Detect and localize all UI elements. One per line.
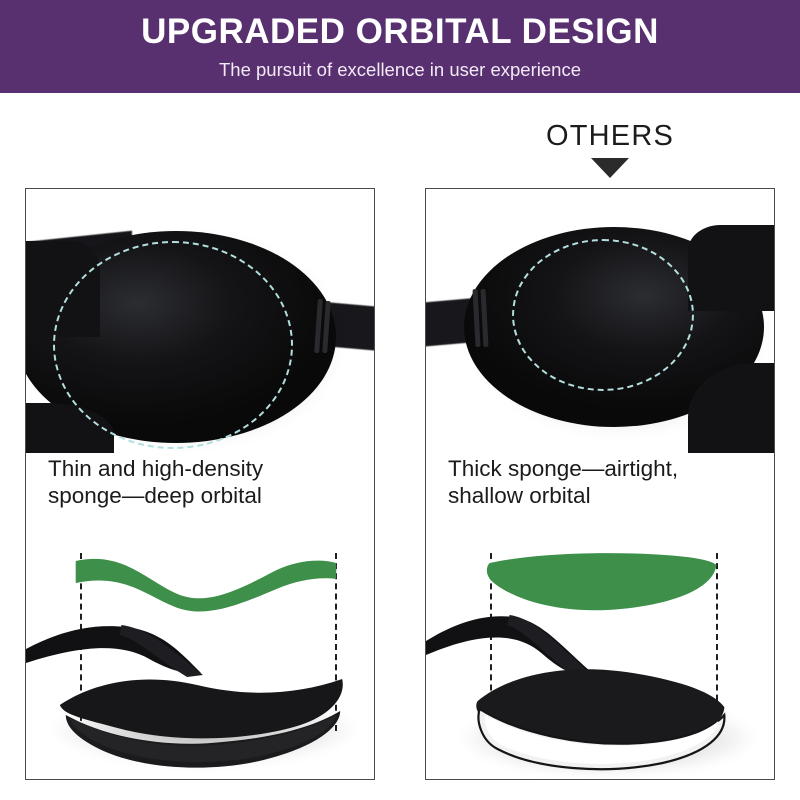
orbital-marker-dashed-ellipse (53, 241, 293, 449)
panel-caption-ours: Thin and high-density sponge—deep orbita… (26, 455, 374, 510)
mask-side-view-others (426, 545, 774, 780)
sleep-mask-illustration-ours (26, 189, 374, 453)
cross-section-diagram-others (426, 545, 774, 780)
caption-line-2: shallow orbital (448, 482, 754, 509)
product-photo-others (426, 189, 774, 453)
others-label: OTHERS (546, 122, 674, 151)
caption-line-2: sponge—deep orbital (48, 482, 354, 509)
page-title: UPGRADED ORBITAL DESIGN (141, 13, 659, 52)
orbital-marker-dashed-ellipse (512, 239, 694, 391)
mask-right-wing (688, 225, 774, 311)
infographic-page: UPGRADED ORBITAL DESIGN The pursuit of e… (0, 0, 800, 800)
header-banner: UPGRADED ORBITAL DESIGN The pursuit of e… (0, 0, 800, 93)
caption-line-1: Thin and high-density (48, 455, 354, 482)
caption-line-1: Thick sponge—airtight, (448, 455, 754, 482)
comparison-panel-others: Thick sponge—airtight, shallow orbital (425, 188, 775, 780)
page-subtitle: The pursuit of excellence in user experi… (219, 59, 581, 81)
mask-side-view-ours (26, 545, 374, 780)
cross-section-diagram-ours (26, 545, 374, 780)
panel-caption-others: Thick sponge—airtight, shallow orbital (426, 455, 774, 510)
comparison-panel-ours: Thin and high-density sponge—deep orbita… (25, 188, 375, 780)
product-photo-ours (26, 189, 374, 453)
sleep-mask-illustration-others (426, 189, 774, 453)
others-callout: OTHERS (540, 122, 680, 178)
triangle-down-icon (591, 158, 629, 178)
